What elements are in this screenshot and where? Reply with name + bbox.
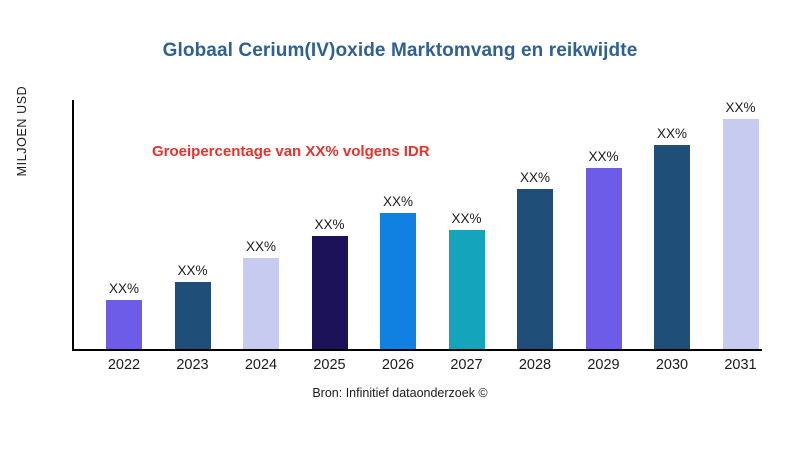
bar-2030[interactable]: XX%	[654, 145, 690, 349]
bar-2028[interactable]: XX%	[517, 189, 553, 349]
bar-2029[interactable]: XX%	[586, 168, 622, 349]
bar-rect-2022[interactable]	[106, 300, 142, 349]
x-tick-label-2028: 2028	[501, 357, 570, 373]
bar-value-label-2025: XX%	[314, 217, 344, 232]
x-tick-label-2025: 2025	[295, 357, 364, 373]
bar-rect-2027[interactable]	[449, 230, 485, 349]
bar-value-label-2027: XX%	[451, 211, 481, 226]
bar-value-label-2030: XX%	[657, 126, 687, 141]
bar-2024[interactable]: XX%	[243, 258, 279, 349]
bar-rect-2030[interactable]	[654, 145, 690, 349]
bar-value-label-2022: XX%	[109, 281, 139, 296]
bar-2027[interactable]: XX%	[449, 230, 485, 349]
bar-value-label-2023: XX%	[177, 263, 207, 278]
bar-2022[interactable]: XX%	[106, 300, 142, 349]
x-tick-label-2031: 2031	[706, 357, 775, 373]
x-tick-label-2030: 2030	[638, 357, 707, 373]
bar-2025[interactable]: XX%	[312, 236, 348, 349]
x-tick-label-2027: 2027	[432, 357, 501, 373]
bar-rect-2029[interactable]	[586, 168, 622, 349]
x-tick-label-2029: 2029	[569, 357, 638, 373]
chart-container: Globaal Cerium(IV)oxide Marktomvang en r…	[0, 0, 800, 450]
bar-value-label-2028: XX%	[520, 170, 550, 185]
bar-2031[interactable]: XX%	[723, 119, 759, 349]
bar-rect-2031[interactable]	[723, 119, 759, 349]
x-tick-label-2024: 2024	[227, 357, 296, 373]
bar-rect-2028[interactable]	[517, 189, 553, 349]
y-axis-label: MILJOEN USD	[15, 71, 29, 191]
source-note: Bron: Infinitief dataonderzoek ©	[0, 386, 800, 400]
chart-title: Globaal Cerium(IV)oxide Marktomvang en r…	[0, 40, 800, 62]
bar-rect-2025[interactable]	[312, 236, 348, 349]
bar-value-label-2031: XX%	[725, 100, 755, 115]
x-tick-label-2026: 2026	[364, 357, 433, 373]
bar-value-label-2026: XX%	[383, 194, 413, 209]
bar-value-label-2024: XX%	[246, 239, 276, 254]
x-tick-label-2023: 2023	[158, 357, 227, 373]
y-axis-line	[72, 100, 74, 349]
bar-rect-2023[interactable]	[175, 282, 211, 349]
bar-rect-2024[interactable]	[243, 258, 279, 349]
bar-2023[interactable]: XX%	[175, 282, 211, 349]
growth-rate-annotation: Groeipercentage van XX% volgens IDR	[152, 143, 430, 160]
plot-area: Groeipercentage van XX% volgens IDR XX%X…	[72, 100, 794, 349]
x-tick-label-2022: 2022	[90, 357, 159, 373]
bar-2026[interactable]: XX%	[380, 213, 416, 349]
bar-value-label-2029: XX%	[588, 149, 618, 164]
x-axis-line	[72, 349, 762, 351]
bar-rect-2026[interactable]	[380, 213, 416, 349]
